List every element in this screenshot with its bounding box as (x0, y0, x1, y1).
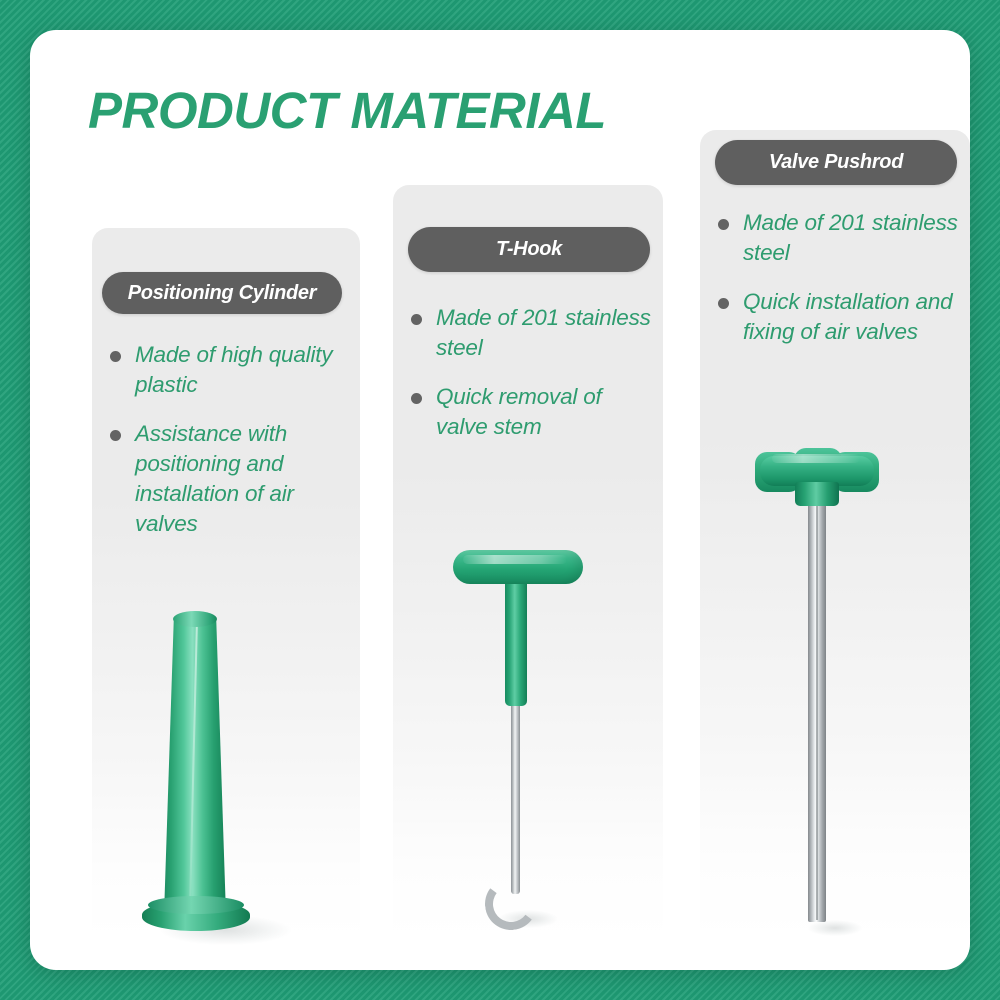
bullet-list-t-hook: Made of 201 stainless steel Quick remova… (403, 303, 651, 461)
bullet-dot-icon (411, 393, 422, 404)
bullet-dot-icon (110, 351, 121, 362)
cone-flange-top-ring (148, 896, 244, 914)
list-item: Made of high quality plastic (102, 340, 348, 400)
bullet-list-positioning-cylinder: Made of high quality plastic Assistance … (102, 340, 348, 558)
t-hook-handle-gloss (463, 555, 567, 564)
pushrod-rod-groove (816, 504, 818, 920)
pushrod-knob-gloss (772, 454, 860, 463)
bullet-dot-icon (718, 298, 729, 309)
t-hook-steel-shaft (511, 700, 520, 894)
product-image-positioning-cylinder (92, 615, 360, 945)
bullet-text: Made of high quality plastic (135, 340, 348, 400)
infographic-canvas: PRODUCT MATERIAL Positioning Cylinder Ma… (0, 0, 1000, 1000)
bullet-text: Made of 201 stainless steel (436, 303, 651, 363)
bullet-text: Assistance with positioning and installa… (135, 419, 348, 539)
card-badge-valve-pushrod: Valve Pushrod (715, 140, 957, 185)
bullet-dot-icon (411, 314, 422, 325)
card-badge-t-hook: T-Hook (408, 227, 650, 272)
list-item: Assistance with positioning and installa… (102, 419, 348, 539)
t-hook-handle-stem (505, 578, 527, 706)
pushrod-reflection (808, 920, 862, 936)
bullet-text: Made of 201 stainless steel (743, 208, 958, 268)
pushrod-knob-hub (795, 482, 839, 506)
product-image-t-hook (393, 540, 663, 940)
cone-top-cap (173, 611, 217, 627)
white-content-panel: PRODUCT MATERIAL Positioning Cylinder Ma… (30, 30, 970, 970)
bullet-text: Quick installation and fixing of air val… (743, 287, 958, 347)
bullet-dot-icon (110, 430, 121, 441)
bullet-dot-icon (718, 219, 729, 230)
product-image-valve-pushrod (700, 442, 970, 942)
card-badge-positioning-cylinder: Positioning Cylinder (102, 272, 342, 314)
list-item: Quick removal of valve stem (403, 382, 651, 442)
bullet-text: Quick removal of valve stem (436, 382, 651, 442)
page-title: PRODUCT MATERIAL (88, 82, 606, 140)
list-item: Made of 201 stainless steel (710, 208, 958, 268)
list-item: Made of 201 stainless steel (403, 303, 651, 363)
bullet-list-valve-pushrod: Made of 201 stainless steel Quick instal… (710, 208, 958, 366)
list-item: Quick installation and fixing of air val… (710, 287, 958, 347)
